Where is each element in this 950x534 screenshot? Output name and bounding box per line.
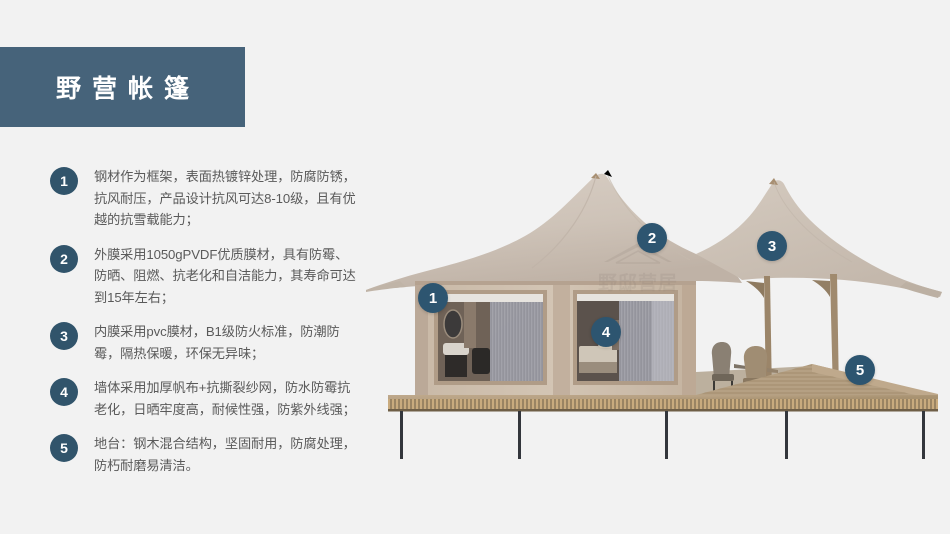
canopy-left-tip	[366, 281, 406, 292]
window-left-group	[434, 290, 547, 385]
feature-description: 内膜采用pvc膜材，B1级防火标准，防潮防霉，隔热保暖，环保无异味；	[94, 321, 360, 364]
deck-fascia-shadow	[388, 409, 938, 412]
feature-description: 外膜采用1050gPVDF优质膜材，具有防霉、防晒、阻燃、抗老化和自洁能力，其寿…	[94, 244, 360, 309]
tent-illustration	[360, 150, 950, 460]
bed-base	[579, 362, 617, 373]
list-item: 3 内膜采用pvc膜材，B1级防火标准，防潮防霉，隔热保暖，环保无异味；	[50, 321, 360, 364]
window-left-curtain	[490, 302, 543, 381]
feature-number-badge: 1	[50, 167, 78, 195]
list-item: 2 外膜采用1050gPVDF优质膜材，具有防霉、防晒、阻燃、抗老化和自洁能力，…	[50, 244, 360, 309]
feature-number-badge: 4	[50, 378, 78, 406]
wall-top-trim	[415, 281, 696, 285]
canopy-main-membrane	[366, 174, 742, 290]
window-right-curtain-fold	[652, 301, 674, 381]
deck-leg	[922, 411, 925, 459]
list-item: 4 墙体采用加厚帆布+抗撕裂纱网，防水防霉抗老化，日晒牢度高，耐候性强，防紫外线…	[50, 377, 360, 420]
wall-center-post	[553, 281, 570, 395]
deck-leg	[518, 411, 521, 459]
feature-description: 墙体采用加厚帆布+抗撕裂纱网，防水防霉抗老化，日晒牢度高，耐候性强，防紫外线强；	[94, 377, 360, 420]
canopy-right-tip	[900, 282, 942, 298]
feature-number-badge: 5	[50, 434, 78, 462]
bed-mattress	[579, 346, 617, 364]
feature-description: 钢材作为框架，表面热镀锌处理，防腐防锈，抗风耐压，产品设计抗风可达8-10级，且…	[94, 166, 360, 231]
list-item: 1 钢材作为框架，表面热镀锌处理，防腐防锈，抗风耐压，产品设计抗风可达8-10级…	[50, 166, 360, 231]
page-title-banner: 野营帐篷	[0, 47, 245, 127]
list-item: 5 地台：钢木混合结构，坚固耐用，防腐处理，防朽耐磨易清洁。	[50, 433, 360, 476]
callout-badge-2[interactable]: 2	[637, 223, 667, 253]
porch-pole-left-bracket	[746, 281, 764, 298]
bathroom-cabinet	[445, 355, 467, 377]
feature-number-badge: 3	[50, 322, 78, 350]
callout-badge-3[interactable]: 3	[757, 231, 787, 261]
deck-leg	[785, 411, 788, 459]
feature-description: 地台：钢木混合结构，坚固耐用，防腐处理，防朽耐磨易清洁。	[94, 433, 360, 476]
porch-pole-right-bracket	[812, 280, 830, 297]
callout-badge-1[interactable]: 1	[418, 283, 448, 313]
bathroom-tub	[472, 348, 490, 374]
bathroom-mirror	[444, 310, 462, 338]
feature-number-badge: 2	[50, 245, 78, 273]
feature-list: 1 钢材作为框架，表面热镀锌处理，防腐防锈，抗风耐压，产品设计抗风可达8-10级…	[50, 166, 360, 489]
window-left-valance	[438, 294, 543, 302]
wall-right-post	[682, 281, 696, 395]
callout-badge-4[interactable]: 4	[591, 317, 621, 347]
deck-leg	[665, 411, 668, 459]
callout-badge-5[interactable]: 5	[845, 355, 875, 385]
deck-top-line	[388, 395, 938, 399]
deck-leg	[400, 411, 403, 459]
window-right-group	[573, 290, 678, 385]
page-title: 野营帐篷	[45, 69, 200, 105]
window-right-valance	[577, 294, 674, 301]
bathroom-side-panel	[464, 302, 476, 348]
